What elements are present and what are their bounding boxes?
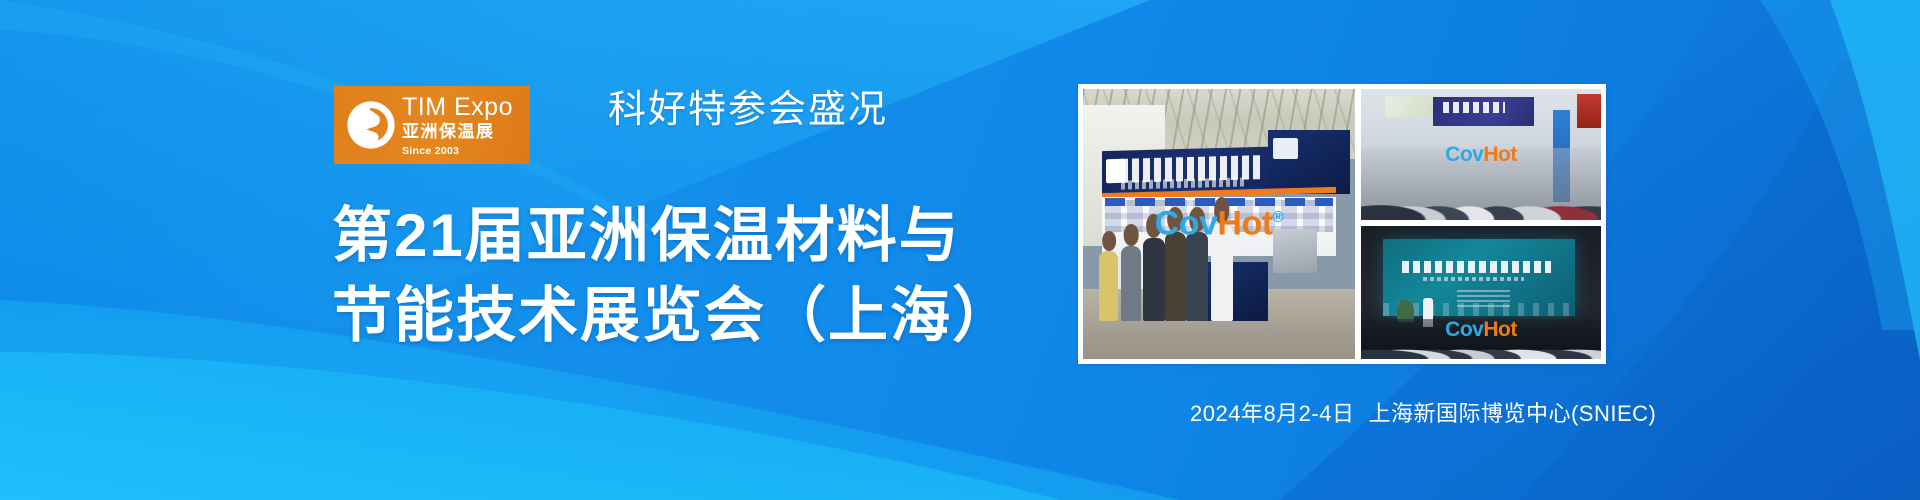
logo-text-block: TIM Expo 亚洲保温展 Since 2003 [402, 93, 513, 157]
forum-audience [1361, 319, 1601, 359]
tim-expo-logo[interactable]: TIM Expo 亚洲保温展 Since 2003 [334, 86, 530, 164]
booth-side-panel-logo [1273, 138, 1297, 160]
headline-line-1: 第21届亚洲保温材料与 [332, 196, 1014, 276]
crowd-photo: CovHot [1361, 89, 1601, 220]
tim-expo-yin-yang-mark [344, 98, 398, 152]
collage-right-column: CovHot CovHot [1361, 89, 1601, 359]
page-title: 第21届亚洲保温材料与 节能技术展览会（上海） [332, 196, 1014, 356]
date-venue-line: 2024年8月2-4日上海新国际博览中心(SNIEC) [1190, 396, 1656, 428]
event-venue: 上海新国际博览中心(SNIEC) [1368, 401, 1656, 426]
crowd-of-visitors [1361, 148, 1601, 220]
booth-photo: CovHot® [1083, 89, 1355, 359]
event-date: 2024年8月2-4日 [1190, 401, 1354, 426]
dely-booth-sign-text [1443, 102, 1505, 112]
visitor-figure [1165, 232, 1187, 321]
photo-collage: CovHot® CovHot [1078, 84, 1606, 364]
visitor-figure [1186, 232, 1208, 321]
red-banner [1577, 94, 1601, 128]
logo-title: TIM Expo [402, 95, 513, 120]
kicker-text: 科好特参会盛况 [608, 78, 888, 133]
visitor-figure [1099, 251, 1118, 321]
forum-screen-subtitle [1423, 277, 1524, 282]
visitor-figure [1121, 246, 1141, 322]
forum-screen-title [1402, 261, 1551, 273]
forum-photo: CovHot [1361, 226, 1601, 359]
booth-machine-display [1273, 229, 1317, 272]
expo-banner: TIM Expo 亚洲保温展 Since 2003 科好特参会盛况 第21届亚洲… [0, 0, 1920, 500]
headline-line-2: 节能技术展览会（上海） [332, 276, 1014, 356]
visitor-figure [1143, 238, 1165, 322]
neighbour-booth-sign [1385, 96, 1438, 117]
logo-since: Since 2003 [402, 146, 513, 157]
visitor-figure [1211, 224, 1233, 321]
logo-subtitle: 亚洲保温展 [402, 123, 513, 140]
